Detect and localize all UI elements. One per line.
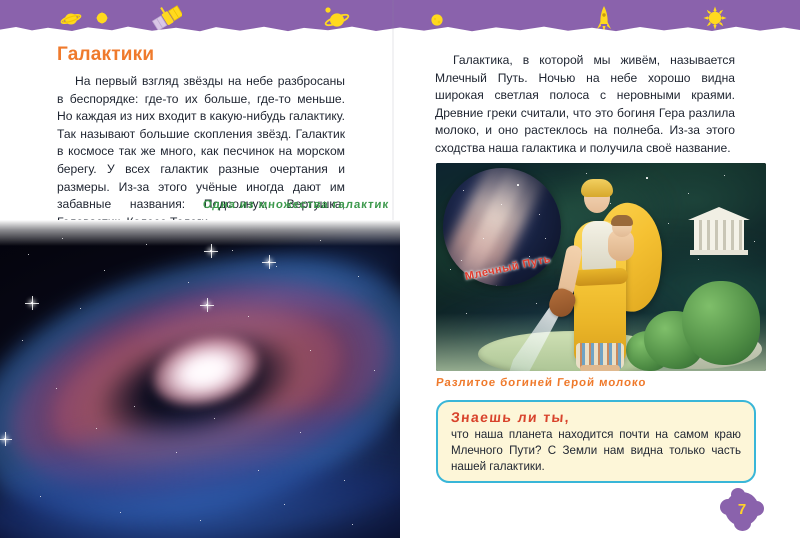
bush-1 (682, 281, 760, 365)
hera-hair (581, 179, 613, 197)
hera-sash (572, 268, 629, 287)
bright-star (31, 302, 33, 304)
did-you-know-box: Знаешь ли ты, что наша планета находится… (436, 400, 756, 483)
sun-icon (703, 6, 727, 30)
bright-star (268, 261, 270, 263)
greek-temple-icon (688, 207, 750, 259)
hera-image-caption: Разлитое богиней Герой молоко (435, 377, 646, 389)
did-you-know-body: что наша планета находится почти на само… (451, 427, 741, 476)
page-number: 7 (725, 492, 759, 526)
right-column-text: Галактика, в которой мы живём, называетс… (435, 52, 735, 158)
decorative-header-band (0, 0, 800, 33)
milky-way-inset-photo (443, 168, 561, 286)
hera-sandals (580, 365, 620, 371)
spiral-galaxy-image (0, 220, 400, 538)
band-torn-edge (0, 25, 800, 33)
page-title: Галактики (57, 44, 154, 66)
page-number-badge: 7 (725, 492, 759, 526)
right-body-paragraph: Галактика, в которой мы живём, называетс… (435, 52, 735, 158)
bright-star (206, 304, 208, 306)
book-spread-page: Галактики На первый взгляд звёзды на неб… (0, 0, 800, 538)
baby-heracles (606, 217, 636, 261)
did-you-know-title: Знаешь ли ты, (450, 409, 741, 425)
bright-star (4, 438, 6, 440)
moon-dot-icon (430, 13, 444, 27)
bright-star (210, 250, 212, 252)
satellite-icon (152, 4, 182, 32)
galaxy-top-fade (0, 220, 400, 246)
saturn-planet-icon (320, 5, 352, 31)
goddess-hera-figure (554, 177, 662, 371)
galaxy-image-caption: Одна из множества галактик (188, 199, 389, 211)
star-icon (95, 11, 109, 25)
ringed-planet-icon (60, 11, 82, 27)
